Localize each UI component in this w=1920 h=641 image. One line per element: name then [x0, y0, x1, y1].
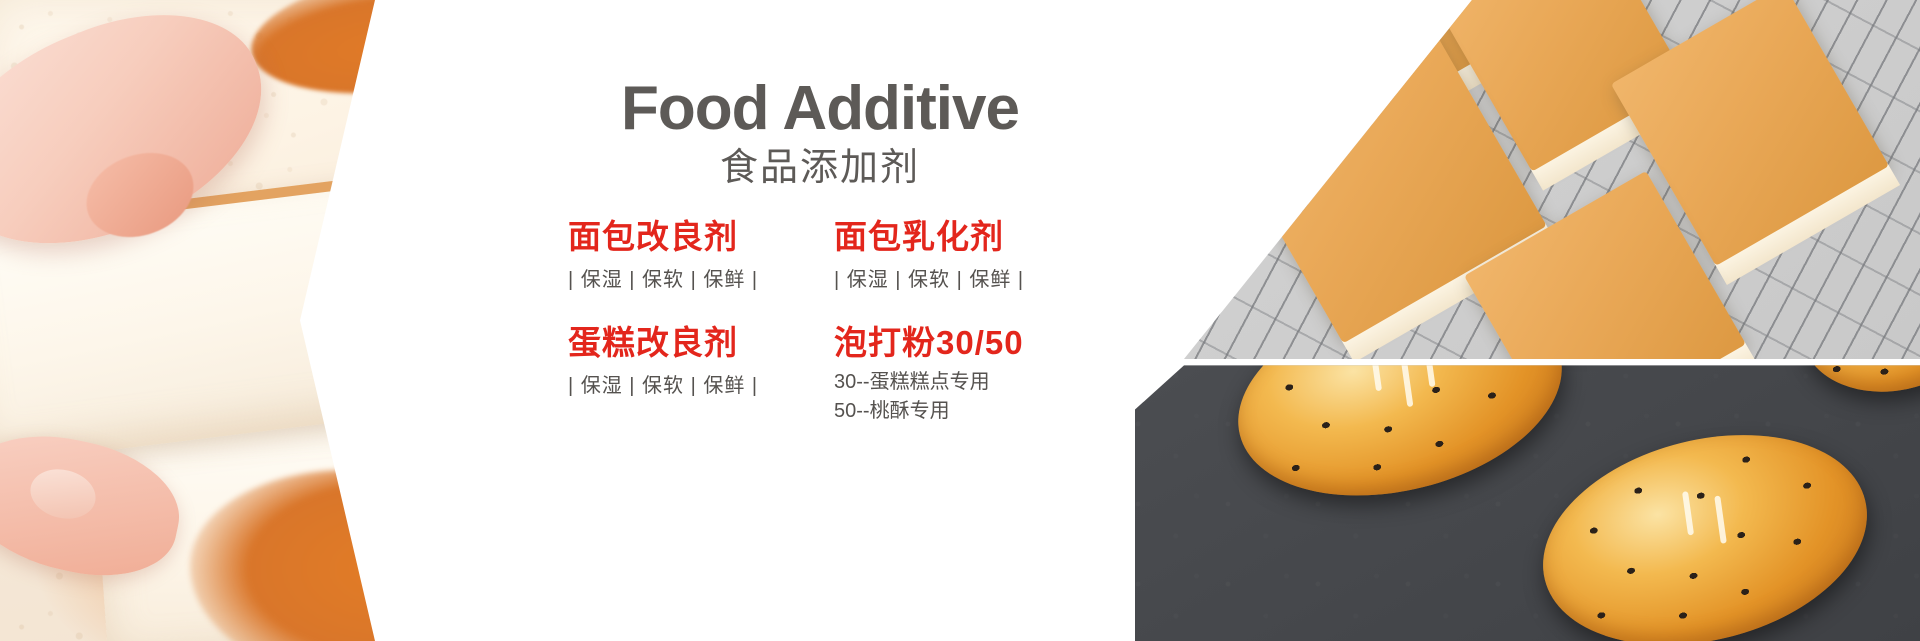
product-cell-bread-improver: 面包改良剂 | 保湿 | 保软 | 保鲜 | [568, 218, 822, 292]
cake-square [1138, 0, 1352, 150]
product-name: 面包乳化剂 [834, 218, 1078, 256]
product-name: 泡打粉30/50 [834, 324, 1078, 362]
product-cell-bread-emulsifier: 面包乳化剂 | 保湿 | 保软 | 保鲜 | [822, 218, 1088, 292]
product-cell-baking-powder: 泡打粉30/50 30--蛋糕糕点专用 50--桃酥专用 [822, 324, 1088, 426]
product-note-line-2: 50--桃酥专用 [834, 397, 1078, 426]
product-features: | 保湿 | 保软 | 保鲜 | [834, 263, 1078, 292]
page-title-en: Food Additive [585, 78, 1055, 140]
food-additive-banner: Food Additive 食品添加剂 面包改良剂 | 保湿 | 保软 | 保鲜… [0, 0, 1920, 641]
row-spacer [568, 292, 1088, 324]
product-row-2: 蛋糕改良剂 | 保湿 | 保软 | 保鲜 | 泡打粉30/50 30--蛋糕糕点… [568, 324, 1088, 426]
page-title-cn: 食品添加剂 [585, 148, 1055, 190]
right-photo-group [1120, 0, 1920, 641]
product-note-line-1: 30--蛋糕糕点专用 [834, 368, 1078, 397]
product-row-1: 面包改良剂 | 保湿 | 保软 | 保鲜 | 面包乳化剂 | 保湿 | 保软 |… [568, 218, 1088, 292]
product-cell-cake-improver: 蛋糕改良剂 | 保湿 | 保软 | 保鲜 | [568, 324, 822, 426]
product-grid: 面包改良剂 | 保湿 | 保软 | 保鲜 | 面包乳化剂 | 保湿 | 保软 |… [568, 218, 1088, 426]
product-features: | 保湿 | 保软 | 保鲜 | [568, 369, 812, 398]
product-name: 蛋糕改良剂 [568, 324, 812, 362]
product-name: 面包改良剂 [568, 218, 812, 256]
product-features: | 保湿 | 保软 | 保鲜 | [568, 263, 812, 292]
